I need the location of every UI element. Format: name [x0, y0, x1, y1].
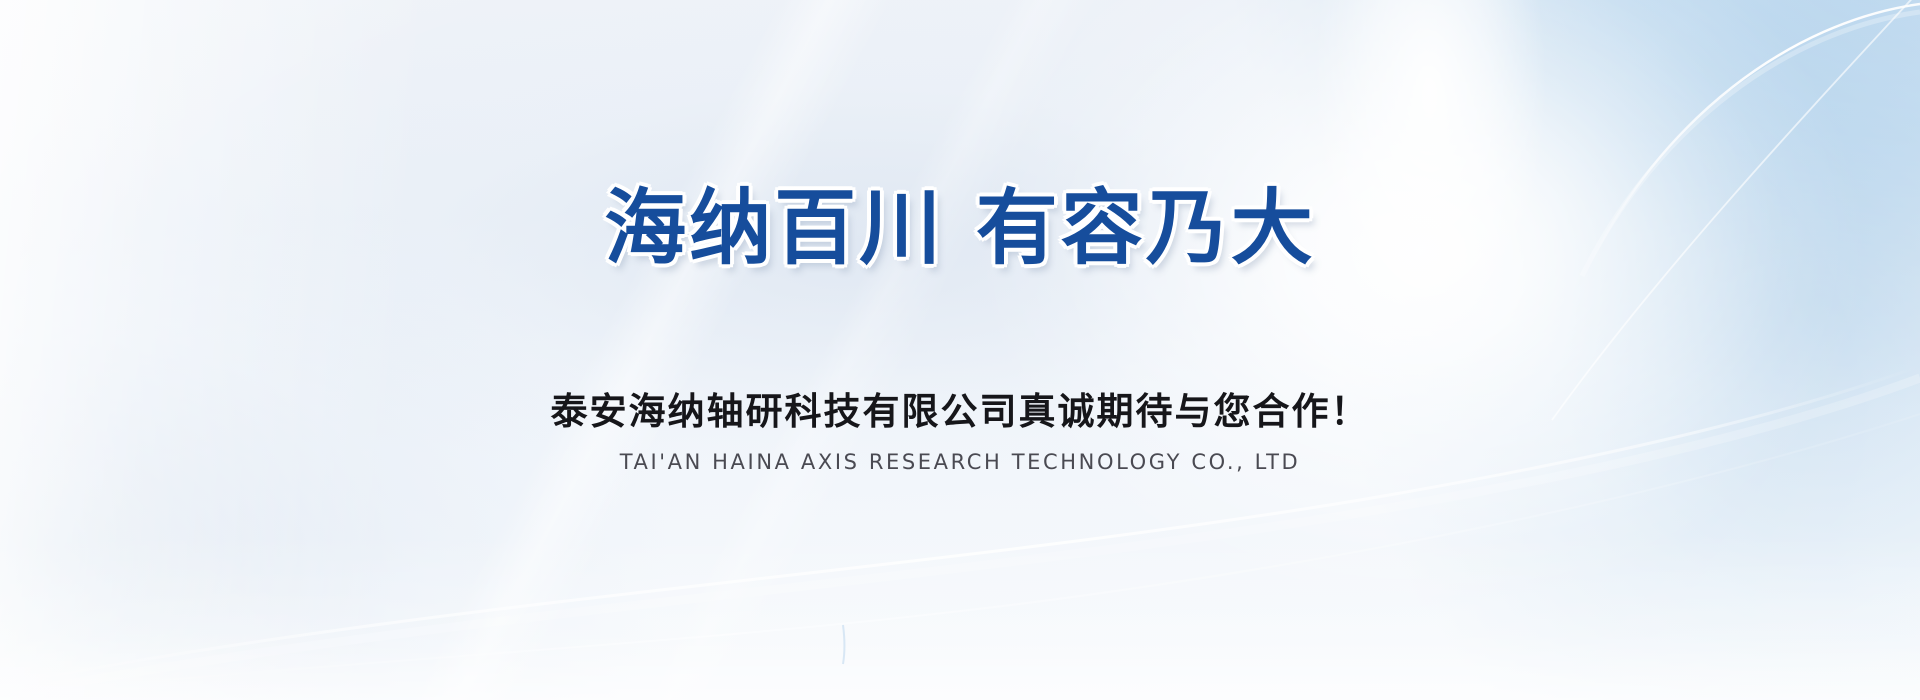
company-tagline-cn: 泰安海纳轴研科技有限公司真诚期待与您合作！ [0, 393, 1920, 430]
hero-banner: 海纳百川 有容乃大 泰安海纳轴研科技有限公司真诚期待与您合作！ TAI'AN H… [0, 0, 1920, 700]
company-name-en: TAI'AN HAINA AXIS RESEARCH TECHNOLOGY CO… [0, 452, 1920, 473]
page-title: 海纳百川 有容乃大 [0, 188, 1920, 270]
banner-content: 海纳百川 有容乃大 泰安海纳轴研科技有限公司真诚期待与您合作！ TAI'AN H… [0, 0, 1920, 700]
